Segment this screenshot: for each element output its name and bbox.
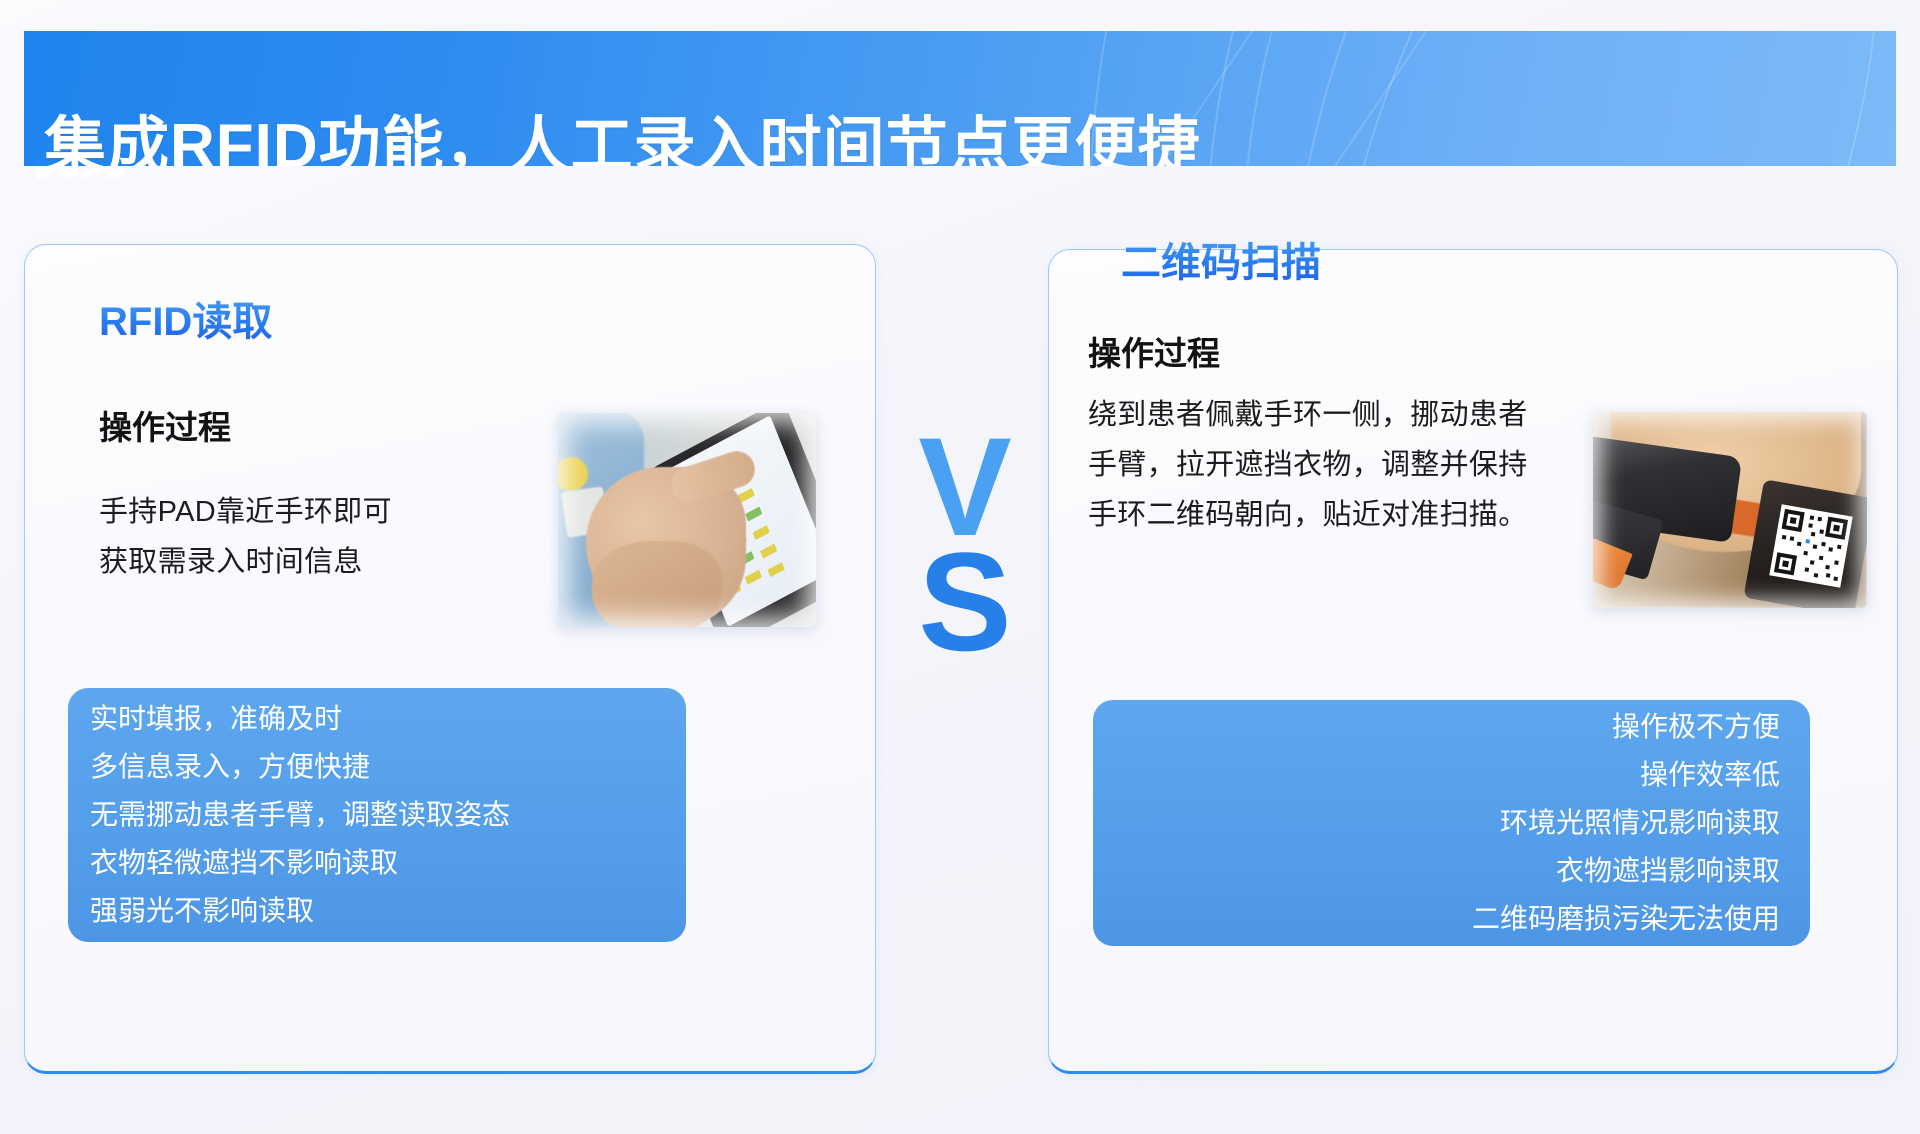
qrcode-disadvantages-list: 操作极不方便 操作效率低 环境光照情况影响读取 衣物遮挡影响读取 二维码磨损污染…: [1160, 704, 1780, 942]
list-item: 实时填报，准确及时: [90, 695, 510, 743]
list-item: 二维码磨损污染无法使用: [1472, 895, 1780, 943]
nurse-holding-tablet-photo: [558, 413, 816, 627]
list-item: 操作效率低: [1472, 751, 1780, 799]
rfid-process-text-line1: 手持PAD靠近手环即可: [99, 487, 392, 537]
rfid-process-heading: 操作过程: [99, 401, 231, 449]
photo-vignette: [558, 413, 816, 627]
rfid-advantages-list: 实时填报，准确及时 多信息录入，方便快捷 无需挪动患者手臂，调整读取姿态 衣物轻…: [90, 692, 510, 938]
rfid-card: [24, 244, 876, 1074]
list-item: 操作极不方便: [1472, 703, 1780, 751]
list-item: 环境光照情况影响读取: [1472, 799, 1780, 847]
qrcode-process-text-line1: 绕到患者佩戴手环一侧，挪动患者: [1088, 390, 1528, 440]
header-banner: 集成RFID功能，人工录入时间节点更便捷: [24, 31, 1896, 166]
list-item: 多信息录入，方便快捷: [90, 743, 510, 791]
list-item: 强弱光不影响读取: [90, 887, 510, 935]
page-title: 集成RFID功能，人工录入时间节点更便捷: [44, 95, 1201, 166]
qrcode-process-text-line2: 手臂，拉开遮挡衣物，调整并保持: [1088, 440, 1528, 490]
list-item: 无需挪动患者手臂，调整读取姿态: [90, 791, 510, 839]
qrcode-process-heading: 操作过程: [1088, 327, 1220, 375]
rfid-process-text-line2: 获取需录入时间信息: [99, 537, 363, 587]
vs-letter-s: S: [905, 545, 1025, 660]
rfid-card-title: RFID读取: [99, 289, 272, 347]
photo-vignette: [1593, 412, 1867, 608]
qrcode-card-title: 二维码扫描: [1121, 230, 1321, 288]
barcode-scanner-qr-wristband-photo: [1593, 412, 1867, 608]
qrcode-process-text-line3: 手环二维码朝向，贴近对准扫描。: [1088, 490, 1528, 540]
list-item: 衣物遮挡影响读取: [1472, 847, 1780, 895]
vs-divider: V S: [905, 430, 1025, 660]
list-item: 衣物轻微遮挡不影响读取: [90, 839, 510, 887]
